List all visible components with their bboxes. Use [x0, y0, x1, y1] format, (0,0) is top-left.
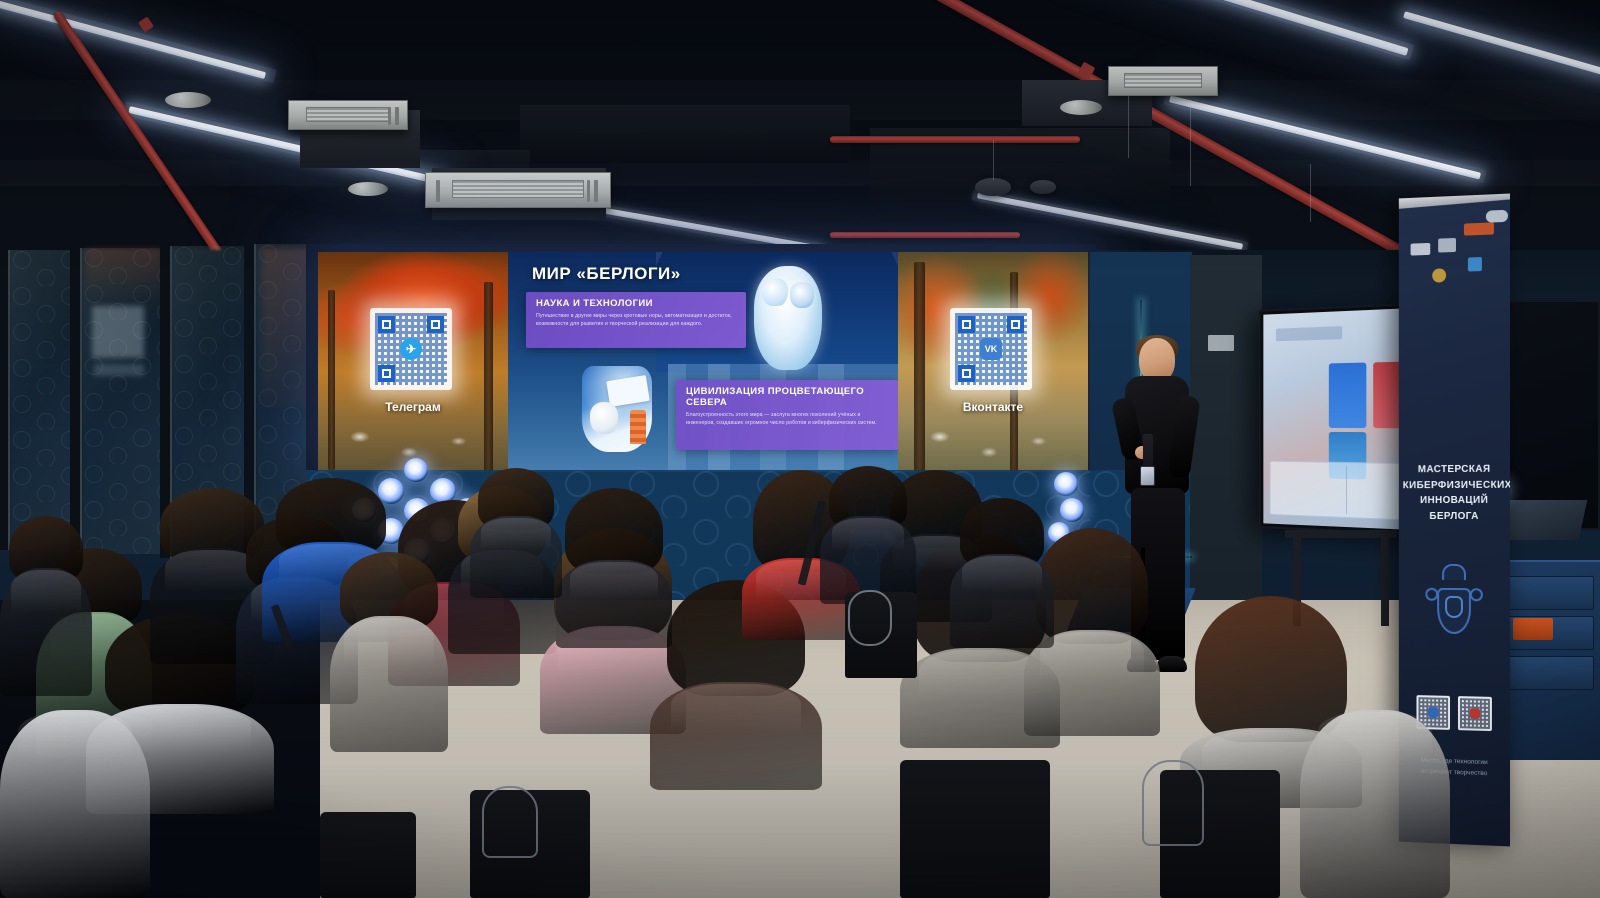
slide-panel-science: НАУКА И ТЕХНОЛОГИИ Путешествие в другие …: [526, 292, 746, 348]
shoulder-highlight: [671, 684, 802, 734]
panel-heading: ЦИВИЛИЗАЦИЯ ПРОЦВЕТАЮЩЕГО СЕВЕРА: [686, 387, 888, 409]
pendant-speaker: [1030, 180, 1056, 194]
banner-title-line: КИБЕРФИЗИЧЕСКИХ: [1403, 477, 1506, 493]
banner-title-line: БЕРЛОГА: [1403, 508, 1506, 524]
brunette-front-student: [556, 488, 672, 648]
vk-icon: VK: [980, 338, 1002, 360]
scene-root: ✈ Телеграм МИР «БЕРЛОГИ» НАУКА И ТЕХНОЛО…: [0, 0, 1600, 898]
shoulder-highlight: [11, 570, 81, 613]
banner-title-line: МАСТЕРСКАЯ: [1403, 462, 1506, 478]
banner-qr-code[interactable]: [1458, 696, 1492, 731]
shoulder-highlight: [1318, 712, 1432, 760]
exit-sign: [1208, 335, 1234, 351]
shoulder-highlight: [570, 562, 658, 600]
sponsor-logo: [1411, 243, 1431, 256]
qr-code-telegram[interactable]: ✈: [370, 308, 452, 390]
front-right-student: [1300, 700, 1450, 898]
panel-body: Путешествие в другие миры через кротовые…: [536, 313, 736, 329]
sponsor-logo: [1438, 238, 1456, 253]
ceiling-light-strip: [0, 0, 266, 79]
display-toolbar: [1276, 326, 1342, 341]
ac-cassette-unit: [288, 100, 408, 130]
orange-container: [1513, 618, 1553, 640]
back-row-student-d: [950, 498, 1054, 648]
banner-title-line: ИННОВАЦИЙ: [1403, 493, 1506, 509]
smoke-detector: [1060, 100, 1102, 115]
back-row-student-c: [820, 466, 916, 604]
sponsor-logo: [1486, 210, 1508, 223]
ac-cassette-unit: [1108, 66, 1218, 96]
pendant-speaker: [975, 178, 1011, 196]
bear-emblem-icon: [1423, 566, 1485, 641]
qr-label-vk: Вконтакте: [898, 400, 1088, 414]
bear-mascot-head: [762, 278, 788, 306]
chair-armrest: [1142, 760, 1204, 846]
light-grey-student: [330, 552, 448, 752]
glass-partition: [8, 250, 74, 550]
bear-mascot-head: [590, 402, 618, 434]
slide-art-right: VK Вконтакте: [898, 252, 1088, 472]
panel-body: Благоустроенность этого мира — заслуга м…: [686, 412, 888, 428]
badge: [1140, 466, 1155, 486]
ceiling-duct: [520, 105, 850, 163]
sprinkler-pipe: [830, 232, 1020, 238]
telegram-icon: ✈: [400, 338, 422, 360]
lanyard: [1143, 434, 1153, 470]
qr-label-telegram: Телеграм: [318, 400, 508, 414]
shoulder-highlight: [919, 650, 1041, 701]
panel-heading: НАУКА И ТЕХНОЛОГИИ: [536, 299, 736, 310]
mascot-tower: [630, 410, 646, 444]
sponsor-logo: [1468, 257, 1482, 272]
back-row-student-a: [0, 516, 92, 696]
back-row-student-b: [470, 468, 562, 598]
slide-title: МИР «БЕРЛОГИ»: [532, 264, 681, 284]
qr-code-vk[interactable]: VK: [950, 308, 1032, 390]
sponsor-logo: [1432, 268, 1446, 282]
shoulder-highlight: [832, 518, 905, 551]
display-card-blue[interactable]: [1329, 362, 1367, 427]
shoulder-highlight: [481, 518, 551, 549]
shoulder-highlight: [18, 712, 132, 760]
bear-mascot-head: [790, 282, 814, 308]
shoulder-highlight: [1040, 632, 1143, 682]
chair: [900, 760, 1050, 898]
ac-cassette-unit: [425, 172, 611, 208]
ceiling-light-strip: [1403, 11, 1600, 76]
smoke-detector: [165, 92, 211, 108]
slide-art-left: ✈ Телеграм: [318, 252, 508, 472]
sprinkler-pipe: [830, 136, 1080, 143]
led-video-wall: ✈ Телеграм МИР «БЕРЛОГИ» НАУКА И ТЕХНОЛО…: [318, 252, 1088, 472]
smoke-detector: [348, 182, 388, 196]
chair: [320, 812, 416, 898]
front-left-student: [0, 700, 150, 898]
ceiling-light-strip: [977, 192, 1243, 249]
chair-armrest: [482, 786, 538, 858]
chair-armrest: [848, 590, 892, 646]
shoulder-highlight: [962, 556, 1041, 592]
sponsor-logo: [1464, 222, 1494, 235]
shoulder-highlight: [344, 618, 434, 666]
slide-panel-civilization: ЦИВИЛИЗАЦИЯ ПРОЦВЕТАЮЩЕГО СЕВЕРА Благоус…: [676, 380, 898, 450]
slide-content: МИР «БЕРЛОГИ» НАУКА И ТЕХНОЛОГИИ Путешес…: [508, 252, 898, 472]
tool-cabinet: [1500, 560, 1600, 760]
banner-title: МАСТЕРСКАЯ КИБЕРФИЗИЧЕСКИХ ИННОВАЦИЙ БЕР…: [1403, 462, 1506, 524]
ceiling: [0, 0, 1600, 270]
